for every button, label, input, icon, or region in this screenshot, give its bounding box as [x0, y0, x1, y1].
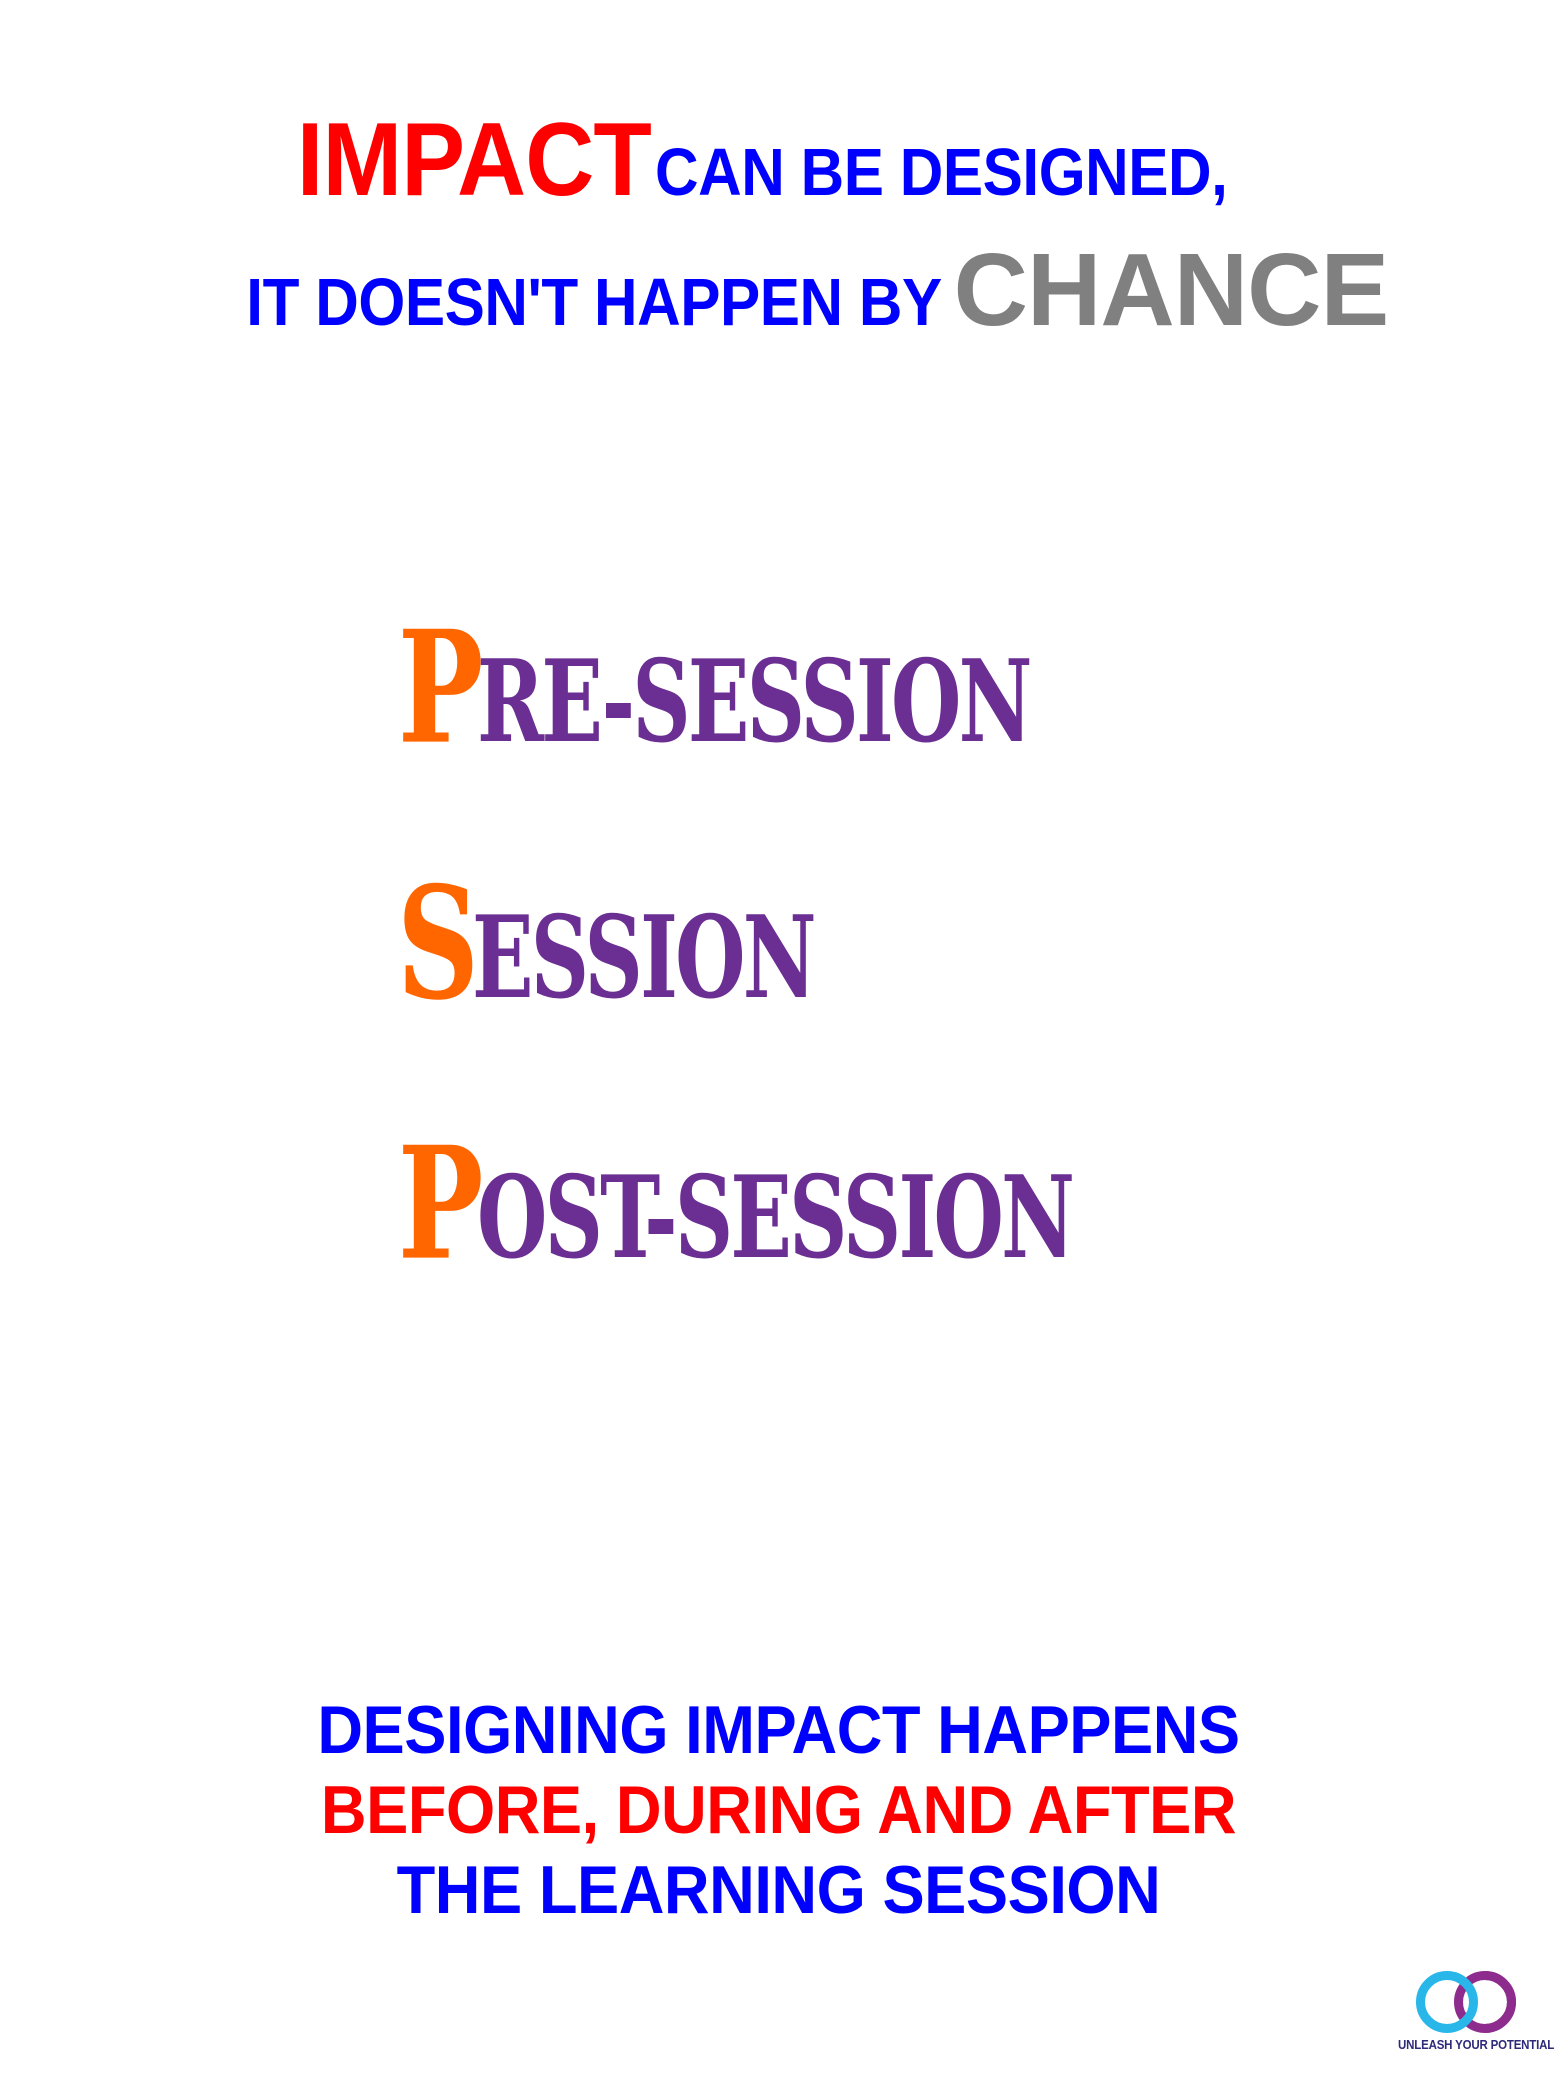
phase-pre-session: PRE-SESSION	[375, 620, 1168, 766]
phase-session: SESSION	[375, 876, 900, 1022]
phase-session-text: ESSION	[472, 901, 814, 1014]
brand-logo: UNLEASH YOUR POTENTIAL	[1392, 1966, 1542, 2068]
headline-impact-word: IMPACT	[297, 108, 651, 212]
phase-post-session-initial: P	[398, 1127, 479, 1282]
tagline-block: DESIGNING IMPACT HAPPENS BEFORE, DURING …	[0, 1690, 1557, 1931]
poster-canvas: IMPACTCAN BE DESIGNED, IT DOESN'T HAPPEN…	[0, 0, 1557, 2076]
phase-post-session: POST-SESSION	[375, 1136, 1221, 1282]
tagline-line-1: DESIGNING IMPACT HAPPENS	[54, 1690, 1502, 1770]
headline-chance-word: CHANCE	[954, 238, 1389, 341]
phase-pre-session-text: RE-SESSION	[477, 645, 1030, 758]
brand-logo-tagline: UNLEASH YOUR POTENTIAL	[1398, 2038, 1536, 2052]
ring-left-icon	[1416, 1971, 1478, 2033]
headline-line-1: IMPACTCAN BE DESIGNED,	[0, 108, 1557, 212]
phase-session-initial: S	[397, 867, 475, 1022]
headline-can-be-designed: CAN BE DESIGNED,	[655, 139, 1227, 206]
headline-block: IMPACTCAN BE DESIGNED, IT DOESN'T HAPPEN…	[0, 108, 1557, 341]
tagline-line-3: THE LEARNING SESSION	[54, 1850, 1502, 1930]
headline-line-2: IT DOESN'T HAPPEN BYCHANCE	[0, 238, 1557, 341]
headline-it-doesnt-happen-by: IT DOESN'T HAPPEN BY	[246, 269, 942, 336]
phase-post-session-text: OST-SESSION	[477, 1161, 1072, 1274]
tagline-line-2: BEFORE, DURING AND AFTER	[54, 1770, 1502, 1850]
phase-pre-session-initial: P	[398, 611, 479, 766]
interlocking-rings-icon	[1392, 1966, 1542, 2038]
